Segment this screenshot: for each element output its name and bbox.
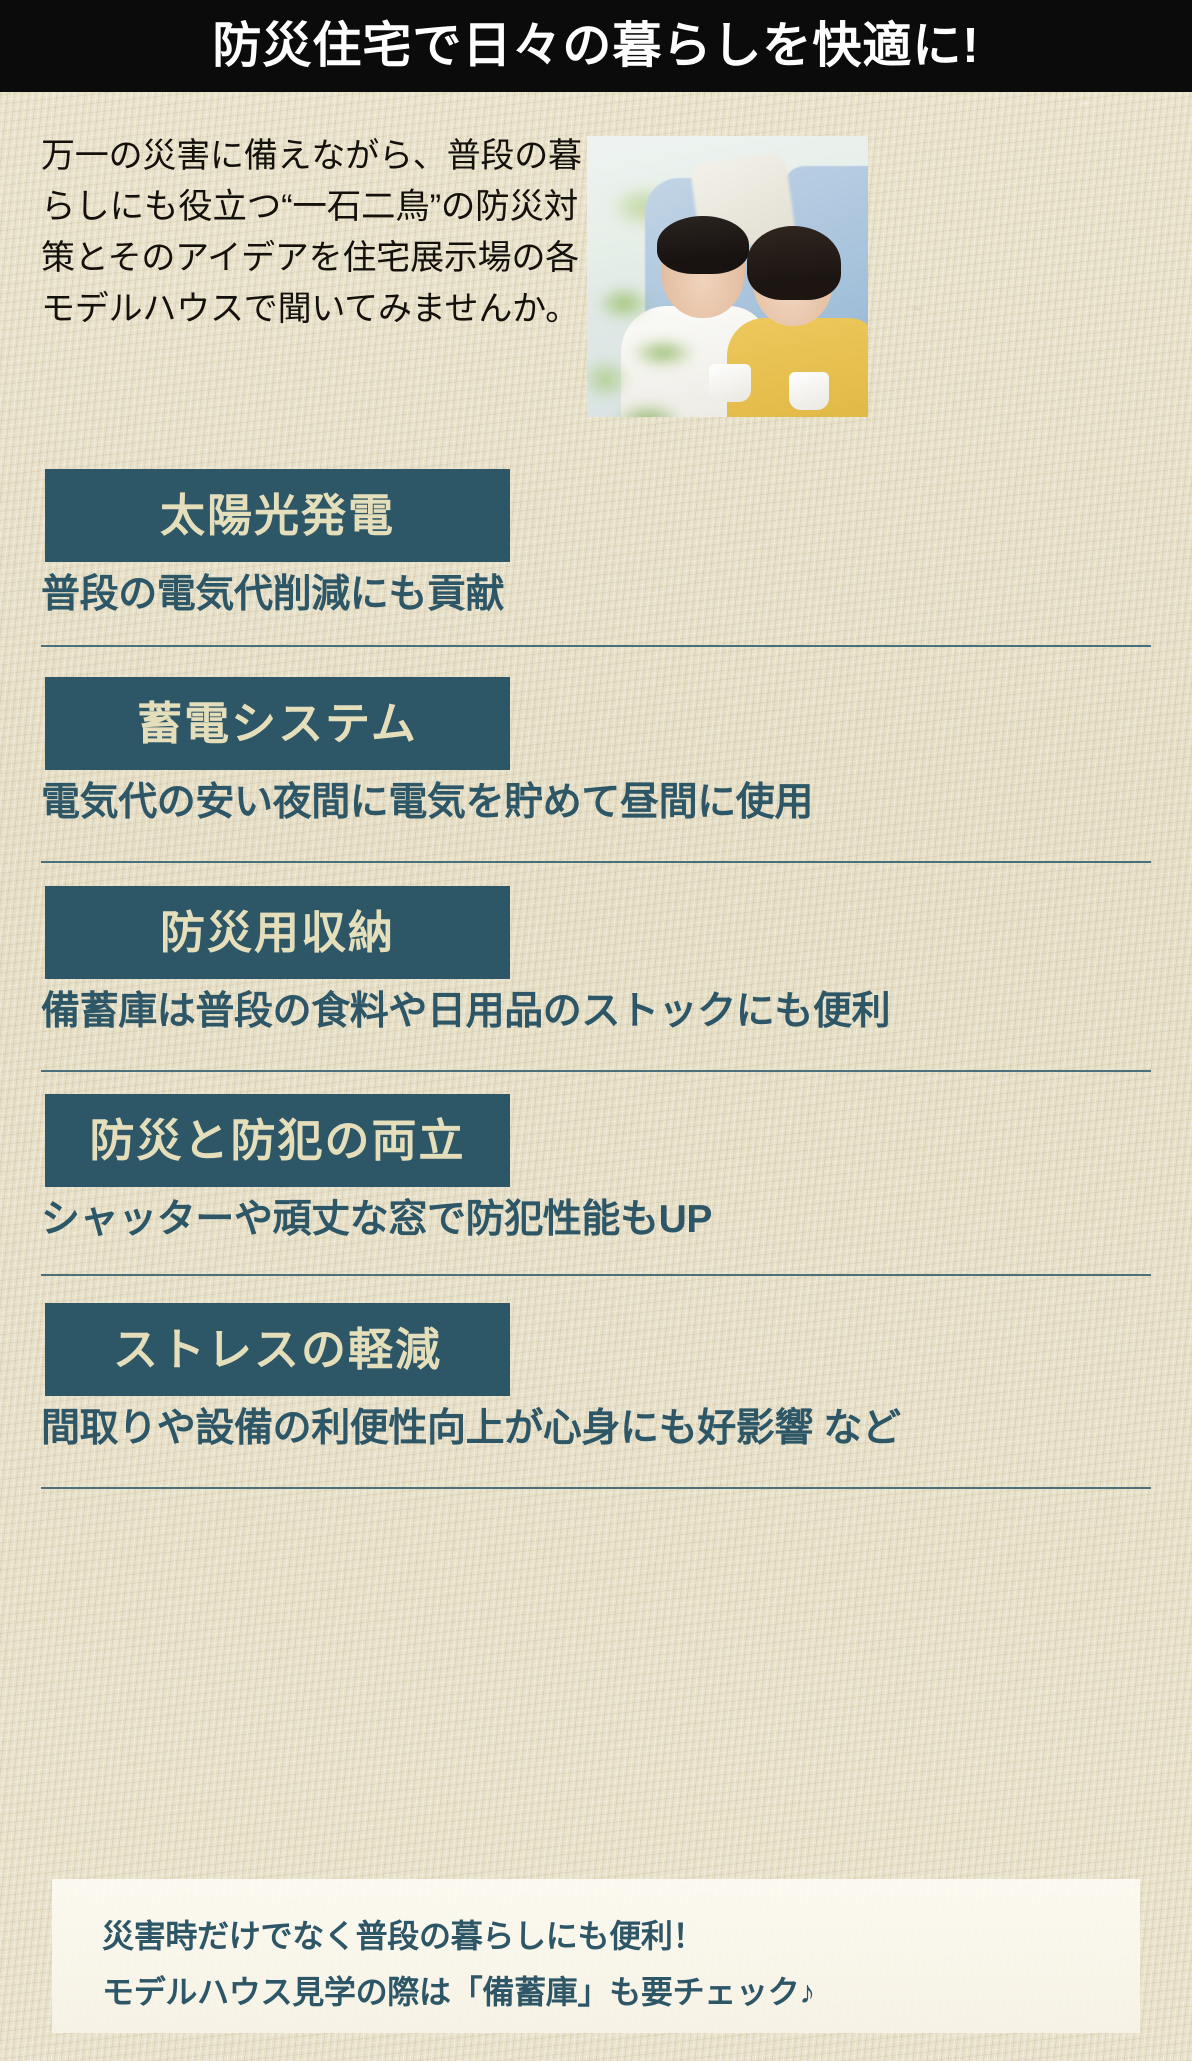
- feature-divider: [41, 1487, 1151, 1489]
- feature-caption-security: シャッターや頑丈な窓で防犯性能もUP: [41, 1199, 712, 1242]
- intro-line-3: 策とそのアイデアを住宅展示場の各: [41, 233, 581, 284]
- feature-badge-label: 防災用収納: [160, 910, 395, 955]
- couple-photo: [587, 136, 868, 417]
- intro-paragraph: 万一の災害に備えながら、普段の暮 らしにも役立つ“一石二鳥”の防災対 策とそのア…: [41, 131, 581, 335]
- footer-note-line-1: 災害時だけでなく普段の暮らしにも便利！: [102, 1920, 704, 1952]
- feature-caption-stress: 間取りや設備の利便性向上が心身にも好影響 など: [41, 1408, 901, 1451]
- footer-note-box: 災害時だけでなく普段の暮らしにも便利！ モデルハウス見学の際は「備蓄庫」も要チェ…: [52, 1879, 1140, 2033]
- page-title: 防災住宅で日々の暮らしを快適に!: [212, 22, 979, 71]
- photo-plant: [587, 254, 723, 417]
- feature-divider: [41, 1070, 1151, 1072]
- header-band: 防災住宅で日々の暮らしを快適に!: [0, 0, 1192, 92]
- feature-divider: [41, 645, 1151, 647]
- feature-badge-storage: 防災用収納: [45, 886, 510, 979]
- intro-line-1: 万一の災害に備えながら、普段の暮: [41, 131, 581, 182]
- feature-badge-label: 太陽光発電: [160, 493, 395, 538]
- intro-line-4: モデルハウスで聞いてみませんか。: [41, 284, 581, 335]
- feature-badge-label: 蓄電システム: [137, 701, 418, 746]
- feature-badge-solar: 太陽光発電: [45, 469, 510, 562]
- infographic-page: 防災住宅で日々の暮らしを快適に! 万一の災害に備えながら、普段の暮 らしにも役立…: [0, 0, 1192, 2061]
- feature-badge-battery: 蓄電システム: [45, 677, 510, 770]
- footer-note-line-2: モデルハウス見学の際は「備蓄庫」も要チェック♪: [102, 1976, 815, 2008]
- photo-mug-right: [789, 372, 829, 410]
- intro-line-2: らしにも役立つ“一石二鳥”の防災対: [41, 182, 581, 233]
- feature-badge-label: 防災と防犯の両立: [89, 1118, 465, 1163]
- feature-divider: [41, 861, 1151, 863]
- feature-badge-label: ストレスの軽減: [113, 1327, 442, 1372]
- feature-badge-security: 防災と防犯の両立: [45, 1094, 510, 1187]
- photo-woman-hair: [747, 226, 841, 300]
- feature-badge-stress: ストレスの軽減: [45, 1303, 510, 1396]
- feature-caption-battery: 電気代の安い夜間に電気を貯めて昼間に使用: [41, 782, 813, 825]
- feature-divider: [41, 1274, 1151, 1276]
- feature-caption-storage: 備蓄庫は普段の食料や日用品のストックにも便利: [41, 991, 890, 1034]
- feature-caption-solar: 普段の電気代削減にも貢献: [41, 574, 504, 617]
